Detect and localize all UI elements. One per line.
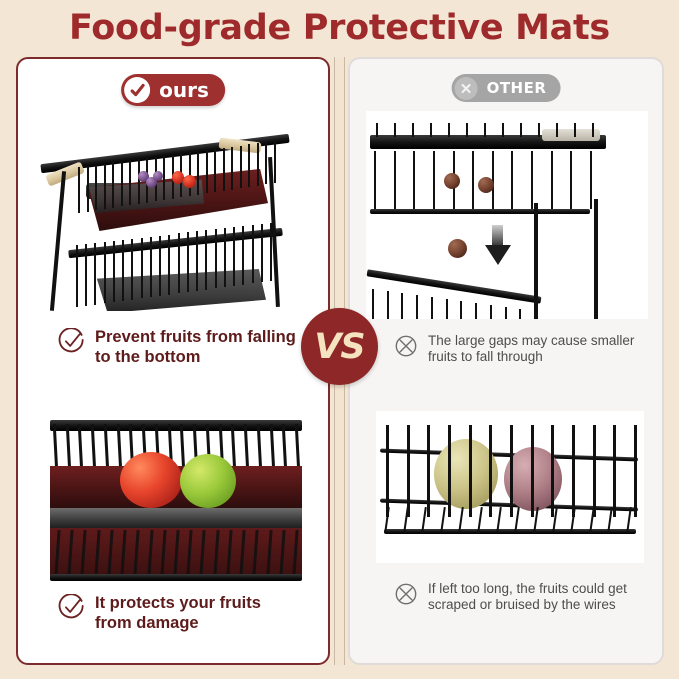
basket-wire: [187, 530, 193, 576]
basket-wire: [570, 507, 576, 533]
basket-wire: [266, 530, 272, 576]
basket-wire: [141, 238, 143, 299]
ours-caption-1-line2: to the bottom: [95, 348, 200, 366]
basket-wire: [215, 229, 217, 288]
ours-badge: ours: [121, 74, 225, 106]
other-caption-1: The large gaps may cause smaller fruits …: [394, 333, 650, 366]
basket-wire: [160, 530, 166, 576]
basket-wire: [416, 295, 418, 319]
basket-wire: [384, 507, 390, 533]
other-caption-1-line2: fruits to fall through: [428, 349, 543, 364]
basket-wire: [460, 301, 462, 319]
basket-wire: [213, 530, 219, 576]
basket-wire: [459, 507, 465, 533]
ours-photo-top: [26, 111, 322, 311]
basket-wire: [261, 224, 263, 282]
basket-wire: [150, 237, 152, 297]
other-panel: OTHER: [348, 57, 664, 665]
other-badge-label: OTHER: [487, 79, 547, 97]
other-caption-2-text: If left too long, the fruits could get s…: [428, 581, 627, 614]
basket-wire: [107, 530, 113, 576]
basket-wire: [81, 530, 87, 576]
basket-wire: [113, 241, 115, 302]
vs-badge: VS: [301, 308, 378, 385]
other-photo-bottom: [376, 411, 644, 563]
basket-wire: [242, 226, 244, 285]
other-caption-1-line1: The large gaps may cause smaller: [428, 333, 634, 348]
basket-wire: [76, 245, 78, 307]
basket-wire: [173, 530, 179, 576]
basket-wire: [68, 530, 74, 576]
basket-wire: [121, 530, 127, 576]
ours-caption-1-text: Prevent fruits from falling to the botto…: [95, 327, 296, 367]
page-title: Food-grade Protective Mats: [0, 8, 679, 48]
basket-wire: [147, 530, 153, 576]
basket-wire: [421, 507, 427, 533]
basket-wire: [224, 228, 226, 287]
basket-wire: [496, 507, 502, 533]
basket-wire: [608, 507, 614, 533]
basket-wire: [240, 530, 246, 576]
basket-wire: [85, 244, 87, 306]
basket-wire: [94, 530, 100, 576]
green-apple: [180, 454, 236, 508]
basket-wire: [159, 236, 161, 296]
other-badge: OTHER: [452, 74, 561, 102]
basket-wire: [372, 289, 374, 319]
other-photo-top: [366, 111, 648, 319]
basket-wire: [187, 232, 189, 292]
ours-caption-2-text: It protects your fruits from damage: [95, 593, 261, 633]
basket-wire: [292, 530, 298, 576]
circle-x-icon: [394, 582, 418, 611]
basket-wire: [252, 225, 254, 283]
vs-label: VS: [314, 327, 364, 367]
ours-caption-2-line1: It protects your fruits: [95, 594, 261, 612]
other-caption-2-line2: scraped or bruised by the wires: [428, 597, 616, 612]
ours-caption-1: Prevent fruits from falling to the botto…: [58, 327, 308, 367]
ours-panel: ours: [16, 57, 330, 665]
check-mark-icon: [124, 77, 150, 103]
basket-wire: [519, 309, 521, 319]
ours-caption-2-line2: from damage: [95, 614, 199, 632]
basket-wire: [589, 507, 595, 533]
basket-wire: [626, 507, 632, 533]
circle-x-icon: [394, 334, 418, 363]
basket-wire: [446, 299, 448, 319]
basket-wire: [168, 235, 170, 295]
basket-wire: [490, 305, 492, 319]
basket-wire: [233, 227, 235, 286]
basket-wire: [54, 530, 60, 576]
ours-caption-2: It protects your fruits from damage: [58, 593, 308, 633]
basket-wire: [552, 507, 558, 533]
basket-wire: [104, 242, 106, 303]
basket-wire: [134, 530, 140, 576]
basket-wire: [94, 243, 96, 305]
basket-wire: [178, 233, 180, 293]
basket-wire: [477, 507, 483, 533]
circle-check-icon: [58, 328, 85, 360]
basket-wire: [122, 240, 124, 301]
basket-wire: [440, 507, 446, 533]
basket-wire: [279, 530, 285, 576]
other-caption-1-text: The large gaps may cause smaller fruits …: [428, 333, 634, 366]
basket-wire: [401, 293, 403, 319]
basket-wire: [514, 507, 520, 533]
cross-mark-icon: [455, 77, 478, 100]
ours-badge-label: ours: [159, 78, 209, 102]
basket-wire: [475, 303, 477, 319]
ours-caption-1-line1: Prevent fruits from falling: [95, 328, 296, 346]
basket-wire: [196, 231, 198, 291]
ours-photo-bottom: [28, 414, 322, 586]
basket-wire: [253, 530, 259, 576]
basket-wire: [200, 530, 206, 576]
basket-wire: [533, 507, 539, 533]
other-caption-2-line1: If left too long, the fruits could get: [428, 581, 627, 596]
basket-wire: [387, 291, 389, 319]
red-apple: [120, 452, 182, 508]
other-caption-2: If left too long, the fruits could get s…: [394, 581, 652, 614]
basket-wire: [226, 530, 232, 576]
basket-wire: [205, 230, 207, 289]
basket-wire: [431, 297, 433, 319]
circle-check-icon: [58, 594, 85, 626]
basket-wire: [403, 507, 409, 533]
basket-wire: [131, 239, 133, 300]
basket-wire: [505, 307, 507, 319]
